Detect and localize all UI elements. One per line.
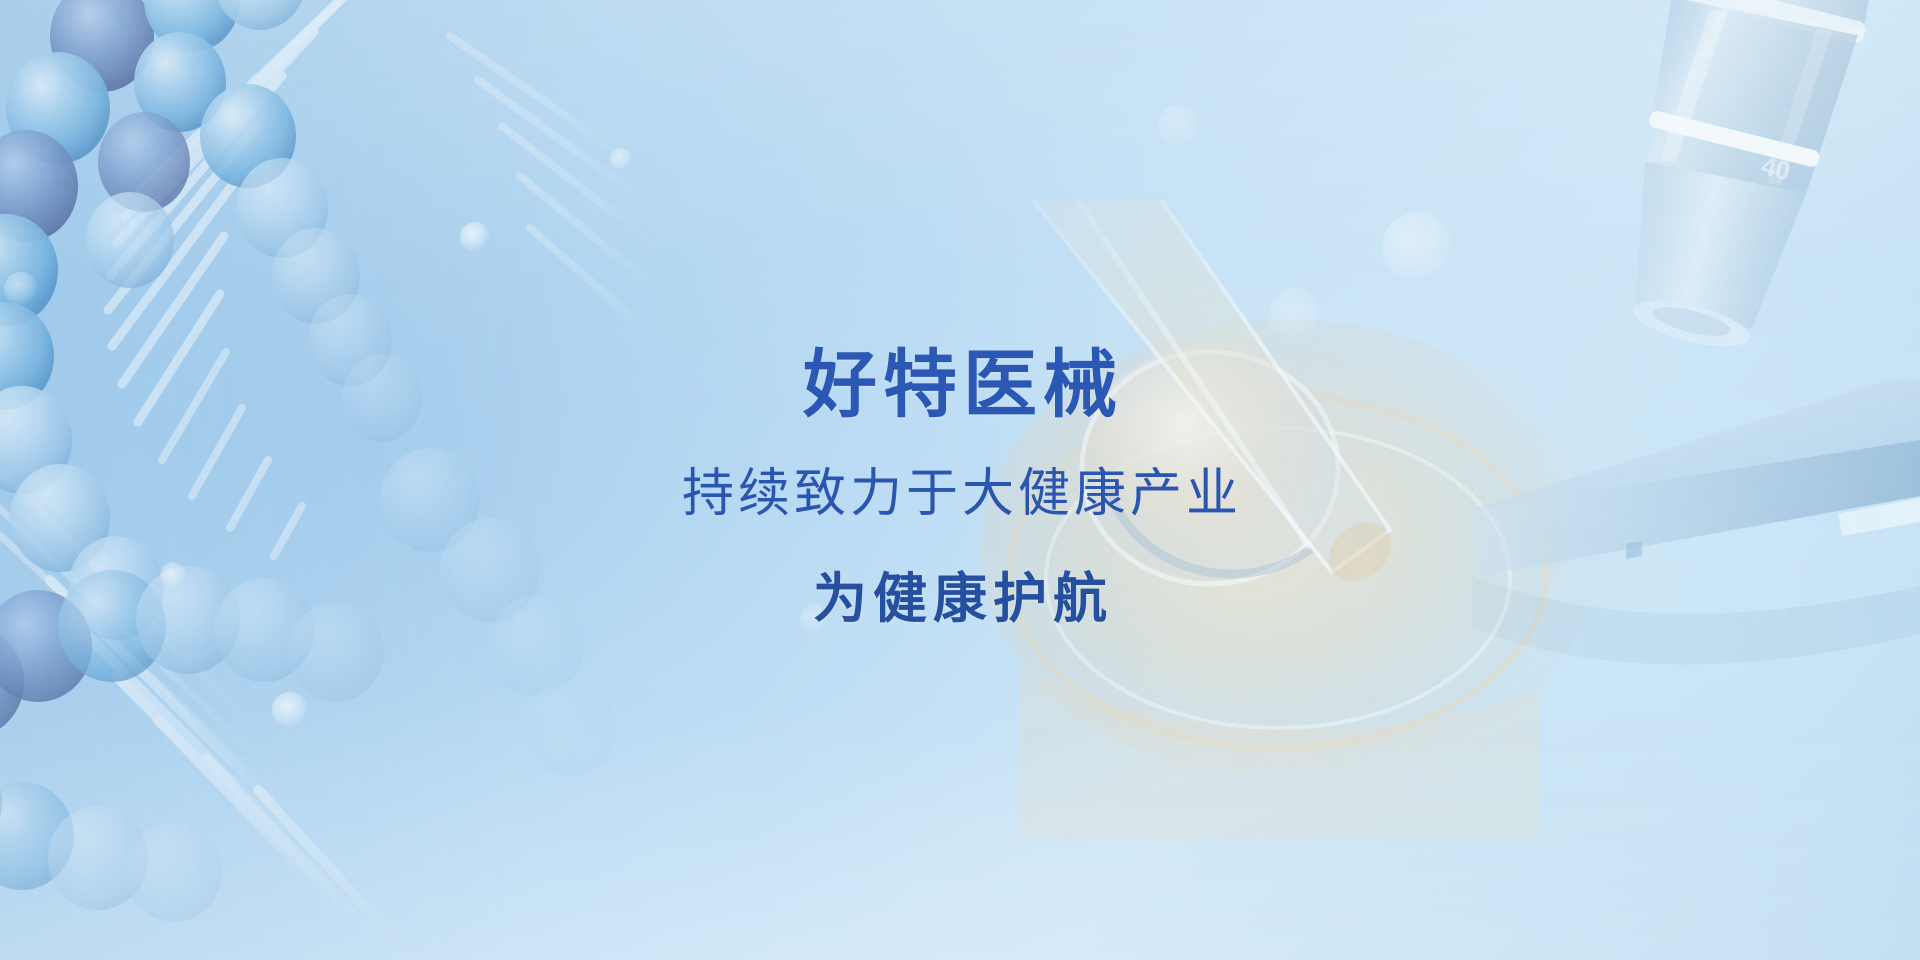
page-title: 好特医械 [0,348,1920,422]
hero-copy-block: 好特医械 持续致力于大健康产业 为健康护航 [0,348,1920,626]
hero-subtitle: 持续致力于大健康产业 [0,468,1920,520]
hero-banner: 40 [0,0,1920,960]
hero-tagline: 为健康护航 [0,572,1920,626]
